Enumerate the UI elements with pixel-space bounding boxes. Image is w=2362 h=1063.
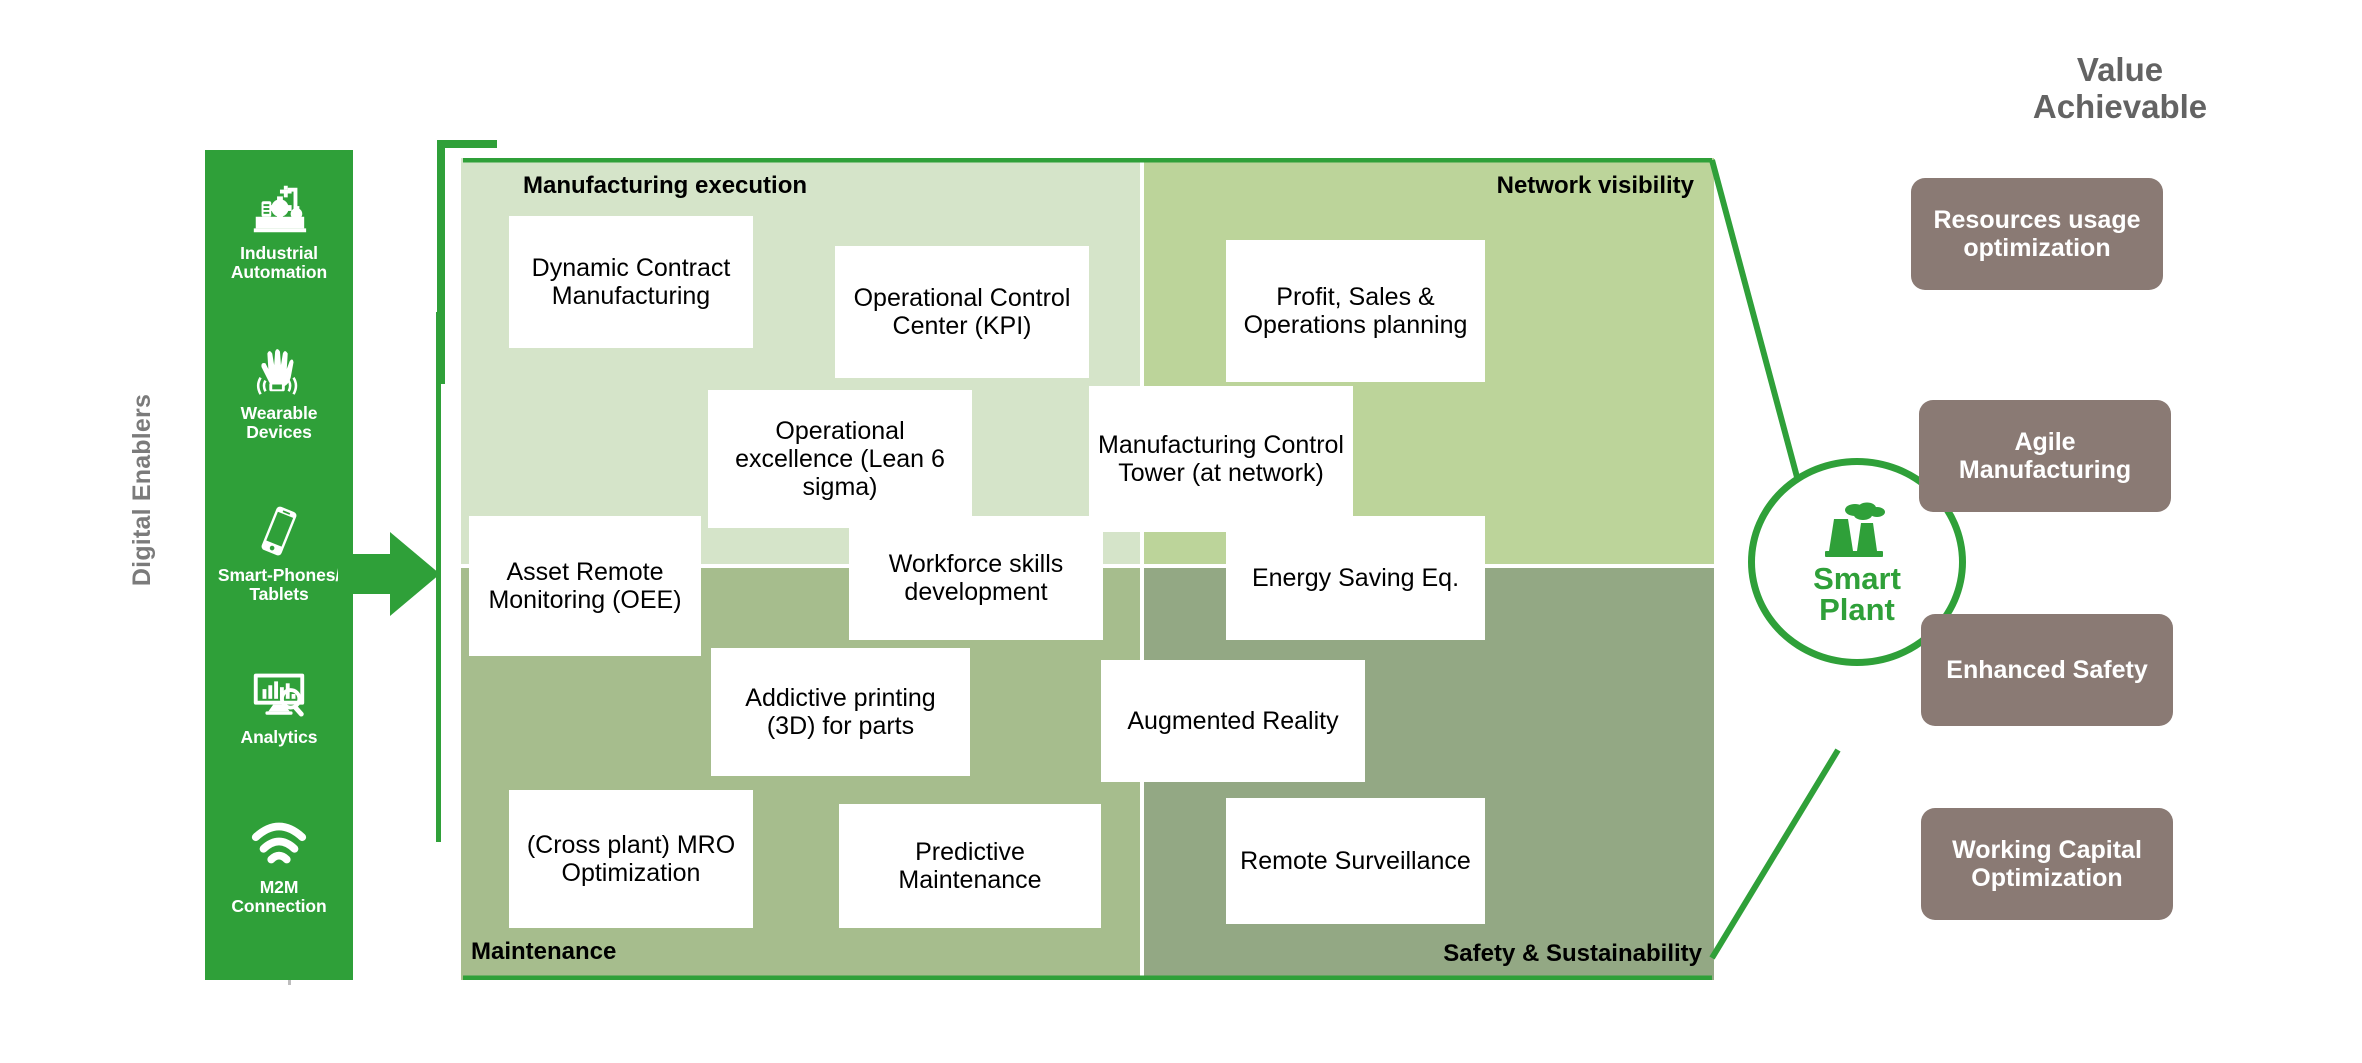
card-cross-plant-mro-optimization[interactable]: (Cross plant) MRO Optimization: [509, 790, 753, 928]
card-operational-excellence[interactable]: Operational excellence (Lean 6 sigma): [708, 390, 972, 528]
value-box-enhanced-safety[interactable]: Enhanced Safety: [1921, 614, 2173, 726]
card-energy-saving-eq[interactable]: Energy Saving Eq.: [1226, 516, 1485, 640]
value-adding-axis-rule: [436, 312, 441, 842]
hand-wearable-icon: [248, 338, 310, 400]
card-remote-surveillance[interactable]: Remote Surveillance: [1226, 798, 1485, 924]
enabler-label: Connection: [231, 897, 326, 916]
value-box-agile-manufacturing[interactable]: Agile Manufacturing: [1919, 400, 2171, 512]
value-title-line2: Achievable: [1965, 89, 2275, 126]
quadrant-label-maintenance: Maintenance: [471, 938, 616, 966]
enabler-industrial-automation[interactable]: Industrial Automation: [205, 178, 353, 282]
smartphone-icon: [248, 500, 310, 562]
digital-enablers-axis-label: Digital Enablers: [122, 340, 162, 640]
card-manufacturing-control-tower[interactable]: Manufacturing Control Tower (at network): [1089, 386, 1353, 532]
value-achievable-title: Value Achievable: [1965, 52, 2275, 126]
smart-plant-label-line1: Smart: [1813, 563, 1901, 594]
enablers-to-matrix-arrow: [338, 528, 440, 620]
quadrant-label-network-visibility: Network visibility: [1497, 172, 1694, 200]
digital-enablers-rail: Industrial Automation Wearable Devices: [205, 150, 353, 980]
card-dynamic-contract-manufacturing[interactable]: Dynamic Contract Manufacturing: [509, 216, 753, 348]
enabler-label: Wearable: [241, 404, 318, 423]
card-workforce-skills-development[interactable]: Workforce skills development: [849, 516, 1103, 640]
factory-smoke-icon: [1819, 499, 1895, 561]
value-matrix: Manufacturing execution Network visibili…: [461, 158, 1714, 980]
enabler-label: Automation: [231, 263, 327, 282]
enabler-analytics[interactable]: Analytics: [205, 662, 353, 747]
value-box-working-capital-optimization[interactable]: Working Capital Optimization: [1921, 808, 2173, 920]
value-box-resources-usage-optimization[interactable]: Resources usage optimization: [1911, 178, 2163, 290]
card-predictive-maintenance[interactable]: Predictive Maintenance: [839, 804, 1101, 928]
card-addictive-printing-3d[interactable]: Addictive printing (3D) for parts: [711, 648, 970, 776]
card-asset-remote-monitoring[interactable]: Asset Remote Monitoring (OEE): [469, 516, 701, 656]
card-augmented-reality[interactable]: Augmented Reality: [1101, 660, 1365, 782]
quadrant-label-manufacturing-execution: Manufacturing execution: [523, 172, 807, 200]
enabler-label: Industrial: [240, 244, 318, 263]
card-profit-sales-operations-planning[interactable]: Profit, Sales & Operations planning: [1226, 240, 1485, 382]
enabler-label: M2M: [260, 878, 299, 897]
enabler-label: Analytics: [241, 728, 318, 747]
enabler-label: Tablets: [249, 585, 308, 604]
factory-gear-icon: [248, 178, 310, 240]
enabler-wearable-devices[interactable]: Wearable Devices: [205, 338, 353, 442]
smart-plant-label-line2: Plant: [1819, 594, 1895, 625]
enabler-label: Smart-Phones/: [218, 566, 340, 585]
value-title-line1: Value: [1965, 52, 2275, 89]
analytics-monitor-icon: [248, 662, 310, 724]
enabler-label: Devices: [246, 423, 311, 442]
enabler-m2m-connection[interactable]: M2M Connection: [205, 812, 353, 916]
quadrant-label-safety-sustainability: Safety & Sustainability: [1443, 940, 1702, 968]
card-operational-control-center[interactable]: Operational Control Center (KPI): [835, 246, 1089, 378]
wifi-icon: [248, 812, 310, 874]
enabler-smartphones-tablets[interactable]: Smart-Phones/ Tablets: [205, 500, 353, 604]
